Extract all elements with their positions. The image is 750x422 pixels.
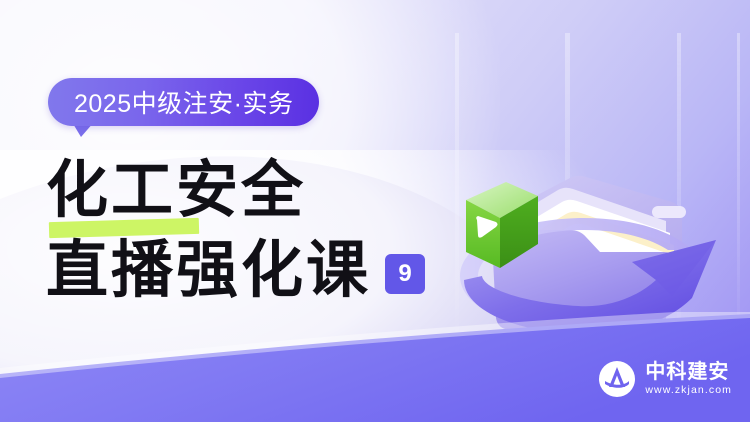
zhongke-jianan-logo-mark-icon: [598, 360, 636, 398]
lesson-number-badge: 9: [385, 254, 425, 294]
headline-block: 化工安全 直播强化课 9: [46, 150, 466, 310]
brand-website-url: www.zkjan.com: [645, 383, 732, 397]
course-category-label: 2025中级注安·实务: [74, 84, 293, 120]
brand-logo-text: 中科建安 www.zkjan.com: [645, 361, 732, 397]
brand-logo[interactable]: 中科建安 www.zkjan.com: [598, 360, 732, 398]
headline-line-1: 化工安全: [46, 150, 466, 230]
headline-line-2: 直播强化课: [46, 230, 371, 310]
headline-line-2-row: 直播强化课 9: [46, 230, 466, 310]
brand-company-name: 中科建安: [645, 361, 732, 383]
course-banner: 2025中级注安·实务 化工安全 直播强化课 9 中科建安 www.zkjan.…: [0, 0, 750, 422]
course-category-badge: 2025中级注安·实务: [48, 78, 319, 126]
illustration-folder-documents: [420, 90, 740, 350]
